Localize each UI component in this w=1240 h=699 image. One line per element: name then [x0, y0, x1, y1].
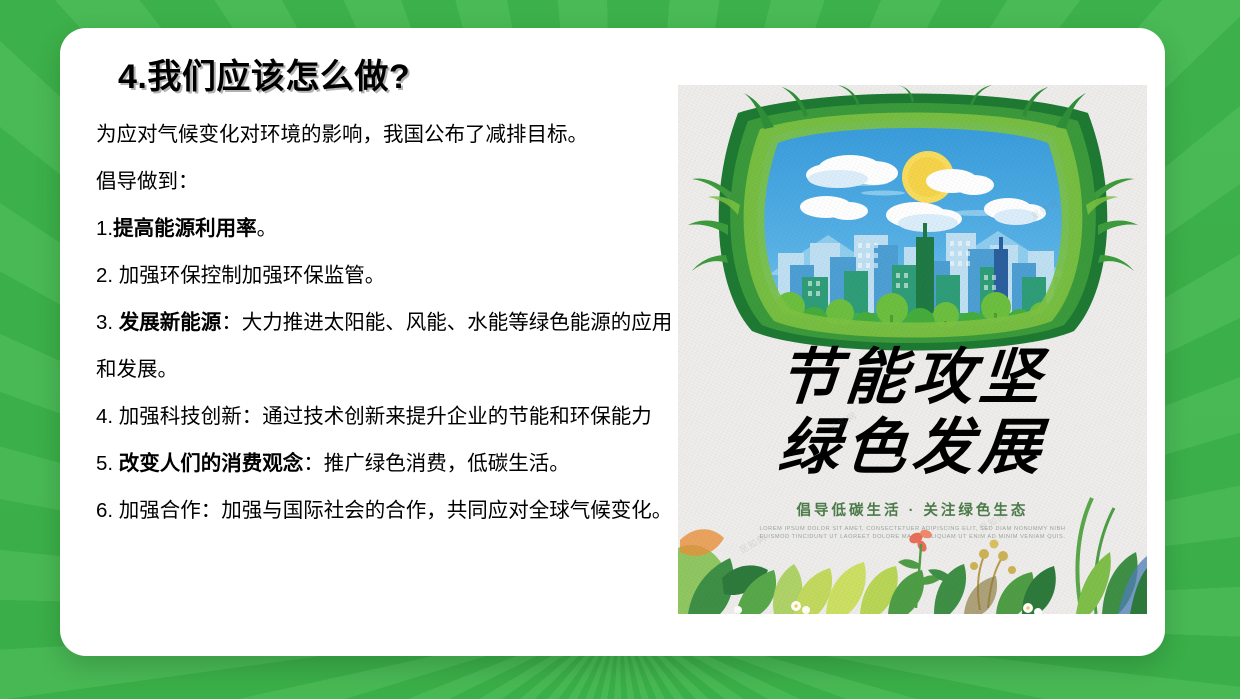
list-item-5-number: 5.	[96, 452, 113, 475]
list-item-1-rest: 。	[257, 217, 278, 240]
list-item-5-bold: 改变人们的消费观念	[113, 452, 303, 475]
list-item-5-rest: ：推广绿色消费，低碳生活。	[303, 452, 570, 475]
watermark: 觅知网	[827, 408, 859, 434]
list-item-5: 5. 改变人们的消费观念：推广绿色消费，低碳生活。	[96, 440, 676, 487]
list-item-2-rest: 加强环保控制加强环保监管。	[113, 264, 385, 287]
poster-image: 节能攻坚 绿色发展 倡导低碳生活 · 关注绿色生态 Lorem ipsum do…	[678, 85, 1147, 614]
text-column: 4.我们应该怎么做? 为应对气候变化对环境的影响，我国公布了减排目标。 倡导做到…	[96, 58, 696, 534]
list-item-2-number: 2.	[96, 264, 113, 287]
papercut-landscape-illustration	[678, 85, 1147, 355]
list-item-6: 6. 加强合作：加强与国际社会的合作，共同应对全球气候变化。	[96, 487, 676, 534]
intro-line-1: 为应对气候变化对环境的影响，我国公布了减排目标。	[96, 111, 676, 158]
list-item-4-rest: 加强科技创新：通过技术创新来提升企业的节能和环保能力	[113, 405, 652, 428]
list-item-1: 1.提高能源利用率。	[96, 205, 676, 252]
content-card: 4.我们应该怎么做? 为应对气候变化对环境的影响，我国公布了减排目标。 倡导做到…	[60, 28, 1165, 656]
poster-headline-line-2: 绿色发展	[678, 413, 1147, 483]
list-item-6-rest: 加强合作：加强与国际社会的合作，共同应对全球气候变化。	[113, 499, 672, 522]
list-item-3-bold: 发展新能源	[113, 311, 221, 334]
intro-line-2: 倡导做到：	[96, 158, 676, 205]
page-title: 4.我们应该怎么做?	[118, 58, 696, 97]
list-item-3-number: 3.	[96, 311, 113, 334]
list-item-6-number: 6.	[96, 499, 113, 522]
poster-foliage-band	[678, 482, 1147, 614]
body-text-block: 为应对气候变化对环境的影响，我国公布了减排目标。 倡导做到： 1.提高能源利用率…	[96, 111, 676, 534]
slide-root: 4.我们应该怎么做? 为应对气候变化对环境的影响，我国公布了减排目标。 倡导做到…	[0, 0, 1240, 699]
list-item-4: 4. 加强科技创新：通过技术创新来提升企业的节能和环保能力	[96, 393, 676, 440]
list-item-1-bold: 提高能源利用率	[113, 217, 257, 240]
list-item-4-number: 4.	[96, 405, 113, 428]
list-item-3: 3. 发展新能源：大力推进太阳能、风能、水能等绿色能源的应用和发展。	[96, 299, 676, 393]
list-item-2: 2. 加强环保控制加强环保监管。	[96, 252, 676, 299]
list-item-1-number: 1.	[96, 217, 113, 240]
